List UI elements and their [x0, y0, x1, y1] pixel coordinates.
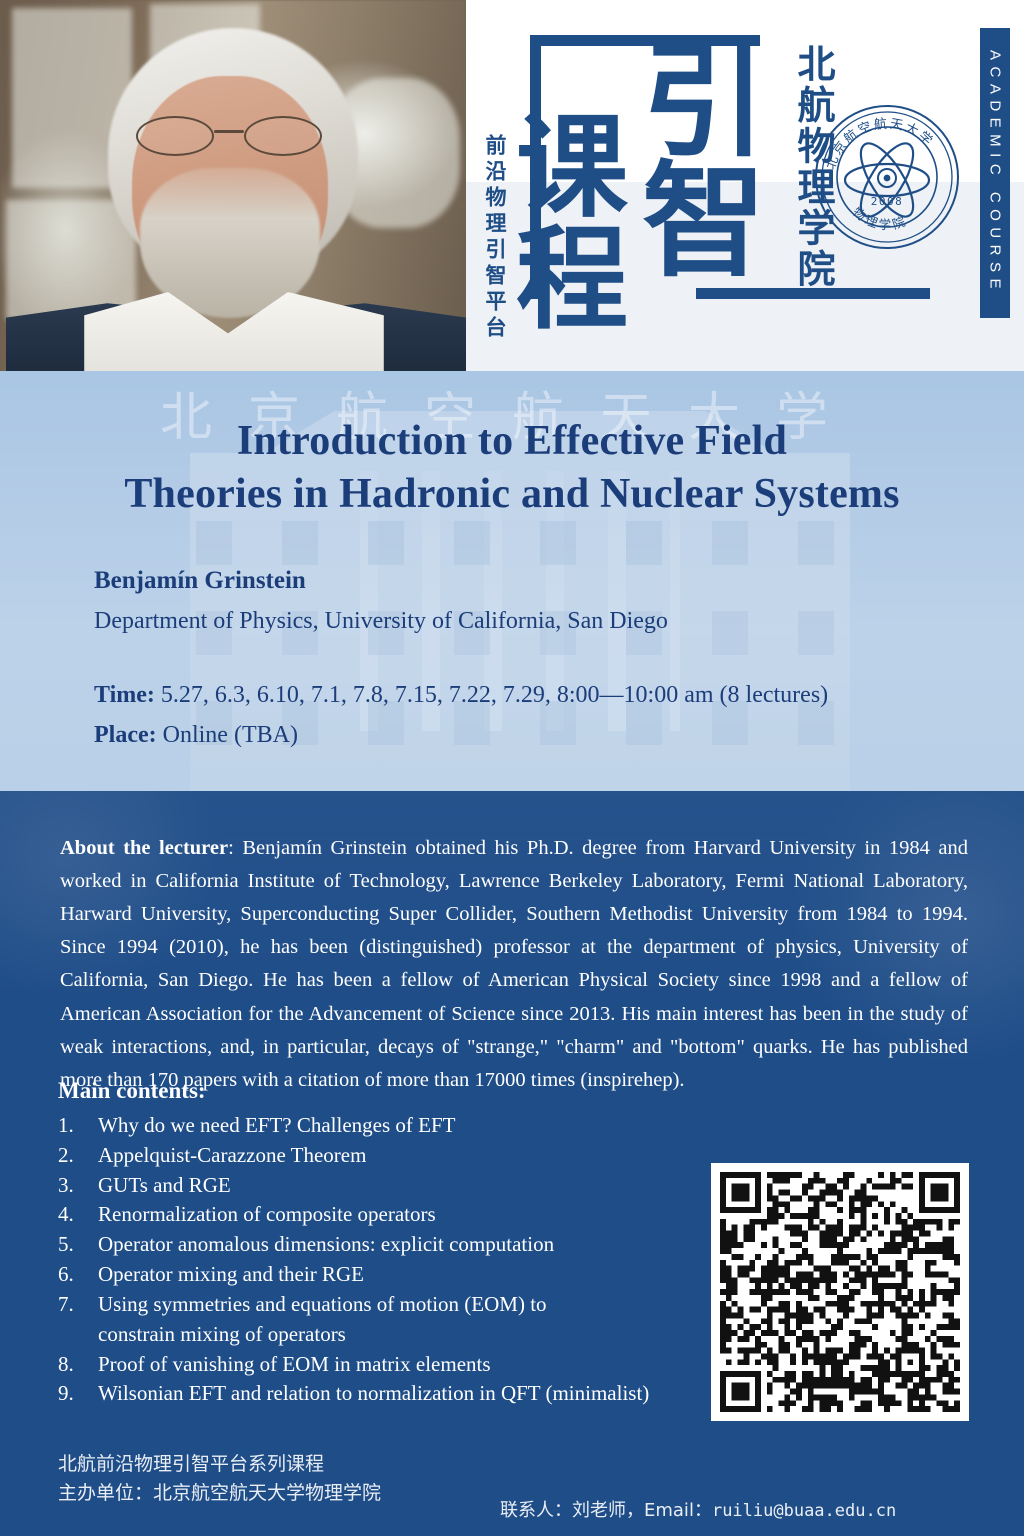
footer-organizer-line: 主办单位：北京航空航天大学物理学院	[58, 1479, 381, 1508]
list-item: 7.Using symmetries and equations of moti…	[58, 1290, 698, 1350]
place-row: Place: Online (TBA)	[94, 722, 298, 749]
qr-code[interactable]	[711, 1163, 969, 1421]
brand-char-yin: 引	[642, 40, 766, 164]
time-label: Time:	[94, 682, 155, 708]
list-item: 3.GUTs and RGE	[58, 1171, 698, 1201]
list-item-number: 4.	[58, 1200, 98, 1230]
list-item-label: Using symmetries and equations of motion…	[98, 1290, 698, 1320]
about-separator: :	[228, 837, 242, 859]
platform-vertical-label: 前沿物理引智平台	[480, 134, 510, 342]
list-item: 1.Why do we need EFT? Challenges of EFT	[58, 1111, 698, 1141]
main-contents-list: 1.Why do we need EFT? Challenges of EFT …	[58, 1111, 698, 1409]
qr-code-canvas	[720, 1172, 960, 1412]
list-item-number: 3.	[58, 1171, 98, 1201]
glasses-icon	[134, 116, 324, 154]
list-item: 8.Proof of vanishing of EOM in matrix el…	[58, 1350, 698, 1380]
brand-char-zhi: 智	[642, 160, 766, 284]
list-item-label: Wilsonian EFT and relation to normalizat…	[98, 1379, 698, 1409]
list-item-number: 1.	[58, 1111, 98, 1141]
footer-info: 北航前沿物理引智平台系列课程 主办单位：北京航空航天大学物理学院	[58, 1450, 381, 1509]
place-label: Place:	[94, 722, 157, 748]
university-seal-logo: 北京航空航天大学 物理学院 2008	[814, 104, 960, 250]
footer-series-line: 北航前沿物理引智平台系列课程	[58, 1450, 381, 1479]
speaker-name: Benjamín Grinstein	[94, 567, 306, 595]
seal-year: 2008	[871, 195, 904, 208]
building-window-row	[196, 521, 844, 565]
contact-email[interactable]: ruiliu@buaa.edu.cn	[712, 1501, 896, 1521]
contact-label: 联系人：刘老师，Email：	[500, 1500, 712, 1521]
footer-contact: 联系人：刘老师，Email：ruiliu@buaa.edu.cn	[500, 1496, 896, 1522]
list-item-label: Renormalization of composite operators	[98, 1200, 698, 1230]
list-item-number: 9.	[58, 1379, 98, 1409]
poster-root: 引 智 课 程 前沿物理引智平台 北航物理学院	[0, 0, 1024, 1536]
brand-char-cheng: 程	[516, 224, 628, 336]
academic-course-label: ACADEMIC COURSE	[980, 28, 1010, 318]
list-item-number: 8.	[58, 1350, 98, 1380]
list-item-label: Operator anomalous dimensions: explicit …	[98, 1230, 698, 1260]
time-row: Time: 5.27, 6.3, 6.10, 7.1, 7.8, 7.15, 7…	[94, 682, 828, 709]
list-item-label: Operator mixing and their RGE	[98, 1260, 698, 1290]
page-title-line-1: Introduction to Effective Field	[0, 415, 1024, 468]
time-value: 5.27, 6.3, 6.10, 7.1, 7.8, 7.15, 7.22, 7…	[161, 682, 828, 708]
list-item: 2.Appelquist-Carazzone Theorem	[58, 1141, 698, 1171]
page-title-line-2: Theories in Hadronic and Nuclear Systems	[0, 468, 1024, 521]
list-item-label: Appelquist-Carazzone Theorem	[98, 1141, 698, 1171]
list-item-label: GUTs and RGE	[98, 1171, 698, 1201]
list-item-label-continued: constrain mixing of operators	[98, 1320, 698, 1350]
page-title: Introduction to Effective Field Theories…	[0, 415, 1024, 520]
speaker-affiliation: Department of Physics, University of Cal…	[94, 608, 668, 635]
glasses-lens-right	[244, 116, 322, 156]
brand-char-ke: 课	[516, 112, 628, 224]
brand-block: 引 智 课 程 前沿物理引智平台 北航物理学院	[466, 0, 1024, 371]
list-item: 6.Operator mixing and their RGE	[58, 1260, 698, 1290]
photo-bokeh-c	[6, 200, 136, 320]
list-item: 5.Operator anomalous dimensions: explici…	[58, 1230, 698, 1260]
hero-band: 北京航空航天大学 Introduction to Effective Field…	[0, 371, 1024, 791]
glasses-lens-left	[136, 116, 214, 156]
place-value: Online (TBA)	[163, 722, 298, 748]
list-item: 4.Renormalization of composite operators	[58, 1200, 698, 1230]
main-contents-heading: Main contents:	[58, 1078, 206, 1104]
list-item-label: Why do we need EFT? Challenges of EFT	[98, 1111, 698, 1141]
list-item-number: 5.	[58, 1230, 98, 1260]
list-item: 9.Wilsonian EFT and relation to normaliz…	[58, 1379, 698, 1409]
about-lecturer-heading: About the lecturer	[60, 837, 228, 859]
about-lecturer-text: Benjamín Grinstein obtained his Ph.D. de…	[60, 837, 968, 1091]
list-item-number: 7.	[58, 1290, 98, 1320]
svg-text:物理学院: 物理学院	[850, 204, 910, 232]
list-item-label: Proof of vanishing of EOM in matrix elem…	[98, 1350, 698, 1380]
list-item-number: 2.	[58, 1141, 98, 1171]
list-item-number: 6.	[58, 1260, 98, 1290]
lecturer-photo	[0, 0, 466, 371]
about-lecturer-paragraph: About the lecturer: Benjamín Grinstein o…	[60, 832, 968, 1098]
poster-header: 引 智 课 程 前沿物理引智平台 北航物理学院	[0, 0, 1024, 371]
glasses-bridge	[214, 130, 244, 133]
